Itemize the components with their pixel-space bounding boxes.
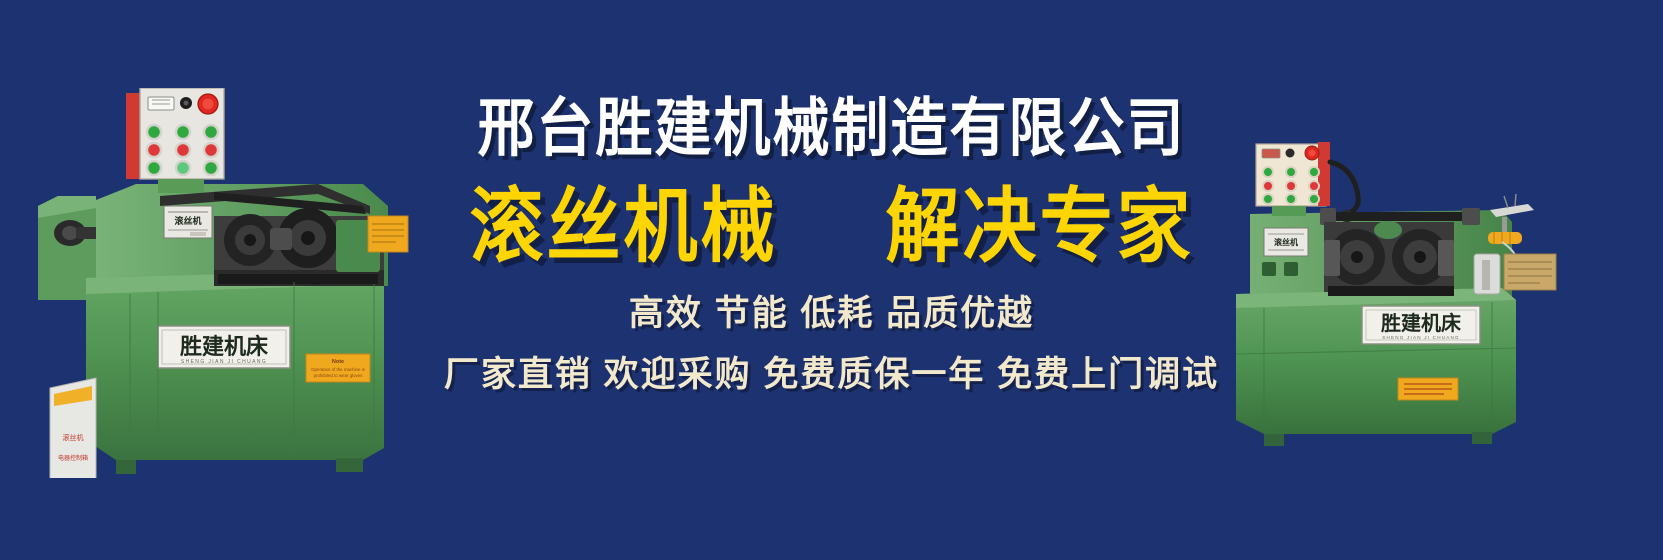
svg-text:prohibited to wear gloves: prohibited to wear gloves — [314, 373, 364, 378]
control-panel-right[interactable] — [1256, 142, 1330, 206]
info-plate-right — [1504, 254, 1556, 290]
headline-product: 滚丝机械 — [470, 186, 778, 267]
headline-slogan: 解决专家 — [886, 186, 1194, 267]
electrical-cabinet: 滚丝机 电器控制箱 — [50, 378, 96, 478]
rolling-head-assembly-right — [1324, 221, 1454, 296]
headline-row: 滚丝机械 解决专家 — [470, 186, 1194, 260]
nameplate-left-pinyin: SHENG JIAN JI CHUANG — [181, 359, 267, 365]
machine-right-illustration: 滚丝机 — [1172, 122, 1572, 452]
svg-text:滚丝机: 滚丝机 — [1274, 237, 1298, 247]
svg-text:电器控制箱: 电器控制箱 — [58, 454, 88, 462]
indicator-lights[interactable] — [147, 125, 218, 175]
nameplate-left: 胜建机床 SHENG JIAN JI CHUANG — [158, 326, 290, 368]
power-cable — [1330, 162, 1358, 214]
company-name: 邢台胜建机械制造有限公司 — [478, 96, 1186, 163]
spec-plate-right: 滚丝机 — [1264, 228, 1308, 256]
spec-label-orange — [368, 216, 408, 252]
subtitle-line-1: 高效 节能 低耗 品质优越 — [629, 296, 1034, 331]
subtitle-line-2: 厂家直销 欢迎采购 免费质保一年 免费上门调试 — [444, 357, 1219, 392]
top-shaft — [1324, 212, 1476, 221]
warning-label-left: Note Operation of the machine is prohibi… — [306, 354, 370, 382]
indicator-lights-right[interactable] — [1263, 167, 1319, 204]
machine-photo-left: 滚丝机 — [18, 88, 418, 478]
nameplate-right-pinyin: SHENG JIAN JI CHUANG — [1382, 335, 1460, 340]
promotional-banner: 滚丝机 — [0, 0, 1663, 560]
svg-text:Operation of the machine is: Operation of the machine is — [311, 367, 365, 372]
nameplate-right-cn: 胜建机床 — [1381, 311, 1462, 335]
spec-plate-left: 滚丝机 — [164, 206, 212, 238]
warning-label-right — [1398, 378, 1458, 400]
nameplate-right: 胜建机床 SHENG JIAN JI CHUANG — [1362, 306, 1480, 344]
machine-photo-right: 滚丝机 — [1172, 122, 1572, 452]
svg-text:滚丝机: 滚丝机 — [63, 433, 84, 442]
machine-left-illustration: 滚丝机 — [18, 88, 418, 478]
warning-label-title-left: Note — [332, 359, 344, 365]
nameplate-left-cn: 胜建机床 — [180, 334, 269, 359]
rolling-head-assembly — [214, 208, 384, 286]
control-panel-left[interactable] — [126, 88, 224, 179]
svg-text:滚丝机: 滚丝机 — [174, 215, 201, 226]
